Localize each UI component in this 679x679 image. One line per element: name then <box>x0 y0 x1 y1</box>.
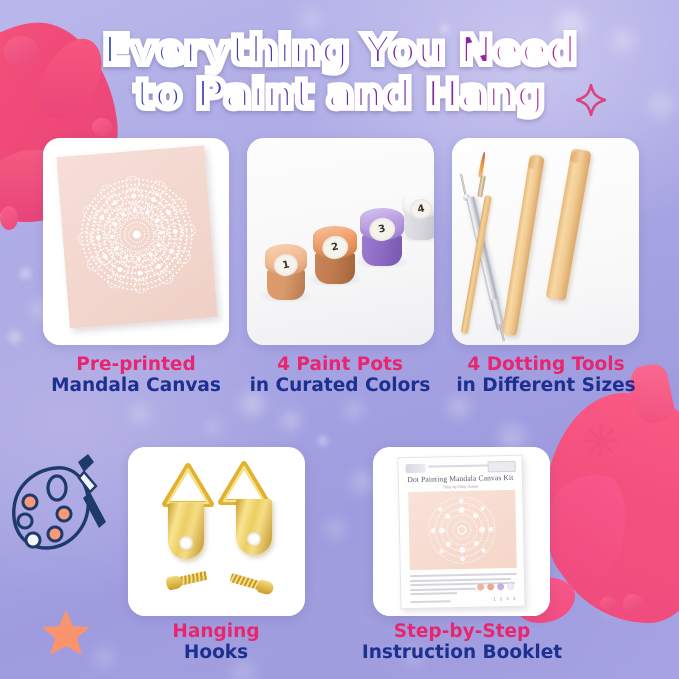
booklet-logo <box>406 464 426 473</box>
caption-canvas: Pre-printed Mandala Canvas <box>18 354 254 396</box>
palette-with-brush-icon <box>4 452 116 564</box>
screw <box>165 568 211 591</box>
caption-paint-pots: 4 Paint Pots in Curated Colors <box>222 354 458 396</box>
d-ring-plate <box>168 503 204 559</box>
d-ring-screw-hole <box>247 532 261 546</box>
booklet-page: Dot Painting Mandala Canvas Kit Step-by-… <box>397 455 525 610</box>
bokeh-dot <box>282 412 300 430</box>
booklet-header-rule <box>429 464 491 467</box>
asterisk-sparkle-icon <box>584 424 618 458</box>
mandala-pattern <box>66 164 208 311</box>
caption-hanging-hooks-line-2: Hooks <box>98 642 334 663</box>
paint-droplet <box>623 594 643 612</box>
caption-canvas-line-1: Pre-printed <box>18 354 254 375</box>
booklet-mandala-preview <box>408 490 517 570</box>
wooden-dowel-large <box>546 148 592 301</box>
d-ring-screw-hole <box>179 536 193 550</box>
hanging-hooks-photo <box>128 447 305 616</box>
caption-instruction-booklet: Step-by-Step Instruction Booklet <box>341 621 583 663</box>
caption-hanging-hooks-line-1: Hanging <box>98 621 334 642</box>
feature-card-canvas <box>43 138 229 345</box>
screw <box>229 571 275 596</box>
paint-pots-photo: 1 2 3 4 <box>247 138 434 345</box>
bokeh-dot <box>346 402 362 418</box>
caption-dotting-tools-line-1: 4 Dotting Tools <box>428 354 664 375</box>
star-icon <box>40 608 92 658</box>
page-title-line-2: to Paint and Hang <box>0 72 679 116</box>
paint-droplet <box>0 206 18 230</box>
d-ring-plate <box>236 499 272 555</box>
paint-pot: 1 <box>265 244 307 300</box>
bokeh-dot <box>448 396 470 418</box>
booklet-badge <box>488 461 516 473</box>
caption-canvas-line-2: Mandala Canvas <box>18 375 254 396</box>
bokeh-dot <box>130 404 150 424</box>
bokeh-dot <box>20 268 31 279</box>
booklet-swatch-number: 2 <box>500 596 503 601</box>
caption-dotting-tools: 4 Dotting Tools in Different Sizes <box>428 354 664 396</box>
feature-card-dotting-tools <box>452 138 639 345</box>
booklet-swatch-number: 3 <box>506 596 509 601</box>
paint-droplet <box>600 597 616 611</box>
bokeh-dot <box>318 436 328 446</box>
pre-printed-mandala-canvas-photo <box>56 145 217 328</box>
wooden-dowel-small <box>502 154 545 336</box>
caption-paint-pots-line-1: 4 Paint Pots <box>222 354 458 375</box>
paint-pot: 4 <box>402 190 434 240</box>
bokeh-dot <box>350 470 374 494</box>
booklet-color-swatches <box>477 583 514 591</box>
caption-hanging-hooks: Hanging Hooks <box>98 621 334 663</box>
feature-card-instruction-booklet: Dot Painting Mandala Canvas Kit Step-by-… <box>373 447 550 616</box>
feature-card-paint-pots: 1 2 3 4 <box>247 138 434 345</box>
bokeh-dot <box>206 420 220 434</box>
page-title: Everything You Need to Paint and Hang <box>0 28 679 116</box>
paint-pot: 2 <box>313 226 357 284</box>
caption-paint-pots-line-2: in Curated Colors <box>222 375 458 396</box>
booklet-swatch-number: 1 <box>493 596 496 601</box>
bokeh-dot <box>326 520 344 538</box>
booklet-footer-rule <box>410 600 450 603</box>
dotting-tools-photo <box>452 138 639 345</box>
feature-card-hanging-hooks <box>128 447 305 616</box>
paint-droplet <box>92 118 112 136</box>
caption-dotting-tools-line-2: in Different Sizes <box>428 375 664 396</box>
booklet-swatch-number: 4 <box>513 596 516 601</box>
booklet-swatch-numbers: 1 2 3 4 <box>493 596 515 601</box>
page-title-line-1: Everything You Need <box>0 28 679 72</box>
bokeh-dot <box>8 330 22 344</box>
caption-instruction-booklet-line-2: Instruction Booklet <box>341 642 583 663</box>
caption-instruction-booklet-line-1: Step-by-Step <box>341 621 583 642</box>
instruction-booklet-photo: Dot Painting Mandala Canvas Kit Step-by-… <box>373 447 550 616</box>
